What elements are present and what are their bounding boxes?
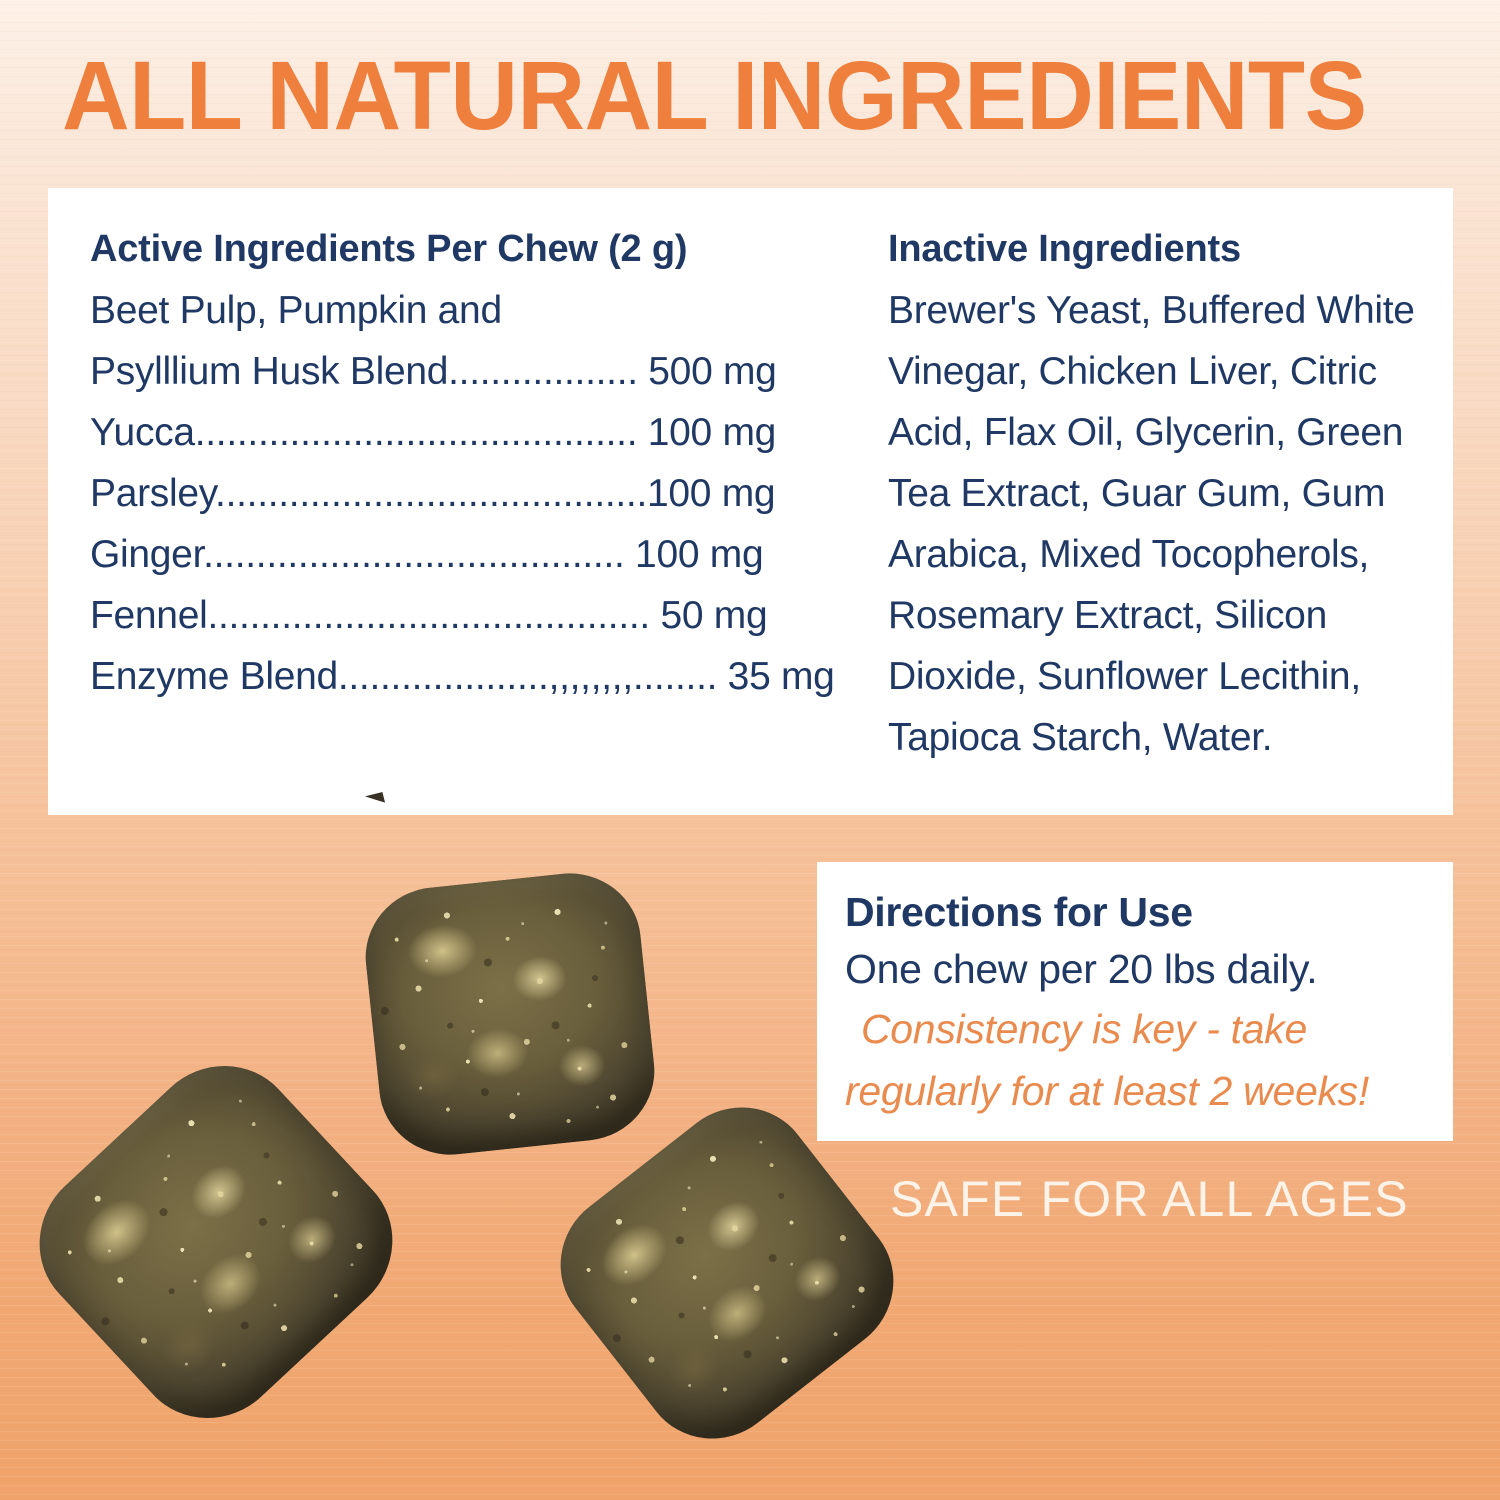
- chew-treat-top: [359, 866, 662, 1161]
- active-ingredient-line: Enzyme Blend....................,,,,,,,,…: [90, 646, 876, 707]
- ingredients-panel: Active Ingredients Per Chew (2 g) Beet P…: [48, 188, 1453, 815]
- active-ingredient-line: Fennel..................................…: [90, 585, 876, 646]
- inactive-ingredients-column: Inactive Ingredients Brewer's Yeast, Buf…: [876, 188, 1453, 815]
- infographic-stage: ALL NATURAL INGREDIENTS Active Ingredien…: [0, 0, 1500, 1500]
- chew-texture-fine-speckles: [359, 866, 662, 1161]
- inactive-ingredients-heading: Inactive Ingredients: [888, 224, 1433, 274]
- inactive-ingredients-body: Brewer's Yeast, Buffered White Vinegar, …: [888, 280, 1433, 768]
- directions-for-use-box: Directions for Use One chew per 20 lbs d…: [817, 862, 1453, 1141]
- directions-dosage-text: One chew per 20 lbs daily.: [845, 940, 1453, 998]
- active-ingredients-heading: Active Ingredients Per Chew (2 g): [90, 224, 876, 274]
- chew-treat-left: [8, 1034, 424, 1449]
- safe-for-all-ages-badge: SAFE FOR ALL AGES: [890, 1168, 1409, 1230]
- active-ingredient-line: Beet Pulp, Pumpkin and: [90, 280, 876, 341]
- chew-texture-fine-speckles: [8, 1034, 424, 1449]
- active-ingredient-line: Ginger..................................…: [90, 524, 876, 585]
- directions-emphasis-line-1: Consistency is key - take: [845, 998, 1453, 1060]
- active-ingredient-line: Parsley.................................…: [90, 463, 876, 524]
- active-ingredients-column: Active Ingredients Per Chew (2 g) Beet P…: [48, 188, 876, 815]
- active-ingredient-line: Psylllium Husk Blend.................. 5…: [90, 341, 876, 402]
- page-title: ALL NATURAL INGREDIENTS: [62, 44, 1413, 148]
- active-ingredient-line: Yucca...................................…: [90, 402, 876, 463]
- directions-heading: Directions for Use: [845, 884, 1453, 940]
- directions-emphasis-line-2: regularly for at least 2 weeks!: [845, 1060, 1453, 1122]
